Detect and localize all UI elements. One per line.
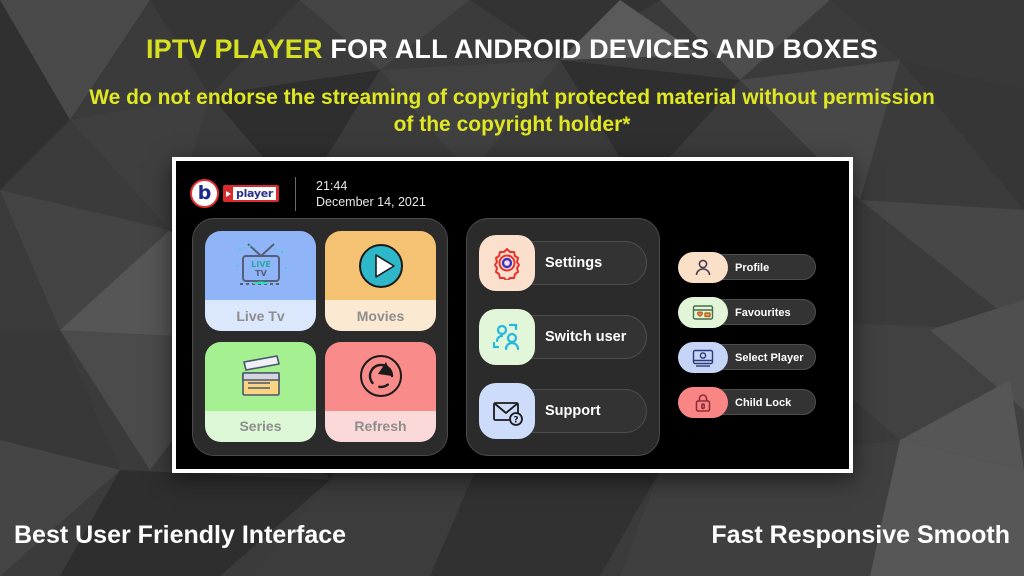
menu-label: Profile: [735, 262, 769, 274]
tile-movies[interactable]: Movies: [325, 231, 436, 331]
menu-item-settings[interactable]: Settings: [479, 232, 647, 294]
tile-label: Movies: [325, 300, 436, 331]
tile-series[interactable]: Series: [205, 342, 316, 442]
footer-right-tagline: Fast Responsive Smooth: [711, 521, 1010, 550]
menu-item-switch-user[interactable]: Switch user: [479, 306, 647, 368]
monitor-icon: [678, 342, 728, 373]
main-tiles-panel: LIVE TV Live Tv: [192, 218, 448, 456]
current-time: 21:44: [316, 178, 426, 194]
gear-icon: [479, 235, 535, 291]
tile-live-tv[interactable]: LIVE TV Live Tv: [205, 231, 316, 331]
menu-item-profile[interactable]: Profile: [678, 252, 804, 283]
topbar-divider: [295, 177, 296, 211]
menu-label: Favourites: [735, 307, 791, 319]
play-triangle-icon: [226, 191, 231, 197]
logo-player-badge: player: [223, 185, 279, 202]
clock-block: 21:44 December 14, 2021: [306, 178, 426, 210]
utility-menu-column: Profile Favourites: [678, 218, 804, 456]
app-topbar: b player 21:44 December 14, 2021: [176, 161, 849, 215]
play-circle-icon: [325, 231, 436, 300]
app-screenshot-frame: b player 21:44 December 14, 2021: [172, 157, 853, 473]
padlock-icon: [678, 387, 728, 418]
menu-label: Select Player: [735, 352, 804, 364]
logo-b-icon: b: [190, 179, 219, 208]
menu-item-child-lock[interactable]: Child Lock: [678, 387, 804, 418]
tile-label: Live Tv: [205, 300, 316, 331]
menu-label: Child Lock: [735, 397, 791, 409]
card-icon: [678, 297, 728, 328]
current-date: December 14, 2021: [316, 194, 426, 210]
page-headline: IPTV PLAYER FOR ALL ANDROID DEVICES AND …: [0, 34, 1024, 65]
logo-word: player: [233, 187, 276, 200]
headline-highlight: IPTV PLAYER: [146, 34, 323, 64]
refresh-icon: [325, 342, 436, 411]
headline-rest: FOR ALL ANDROID DEVICES AND BOXES: [323, 34, 878, 64]
menu-item-favourites[interactable]: Favourites: [678, 297, 804, 328]
person-icon: [678, 252, 728, 283]
menu-label: Switch user: [545, 329, 626, 345]
app-body: LIVE TV Live Tv: [176, 215, 849, 456]
people-icon: [479, 309, 535, 365]
envelope-help-icon: ?: [479, 383, 535, 439]
tile-label: Series: [205, 411, 316, 442]
page-subheadline: We do not endorse the streaming of copyr…: [0, 84, 1024, 138]
secondary-menu-panel: Settings Swi: [466, 218, 660, 456]
footer-left-tagline: Best User Friendly Interface: [14, 521, 346, 550]
menu-label: Settings: [545, 255, 602, 271]
menu-item-select-player[interactable]: Select Player: [678, 342, 804, 373]
logo-letter: b: [198, 184, 212, 203]
clapperboard-icon: [205, 342, 316, 411]
menu-item-support[interactable]: ? Support: [479, 380, 647, 442]
tile-label: Refresh: [325, 411, 436, 442]
tile-refresh[interactable]: Refresh: [325, 342, 436, 442]
menu-label: Support: [545, 403, 601, 419]
svg-text:LIVE: LIVE: [251, 260, 271, 269]
svg-text:?: ?: [513, 416, 518, 426]
live-tv-icon: LIVE TV: [205, 231, 316, 300]
svg-text:TV: TV: [255, 269, 267, 278]
app-logo: b player: [190, 179, 279, 208]
